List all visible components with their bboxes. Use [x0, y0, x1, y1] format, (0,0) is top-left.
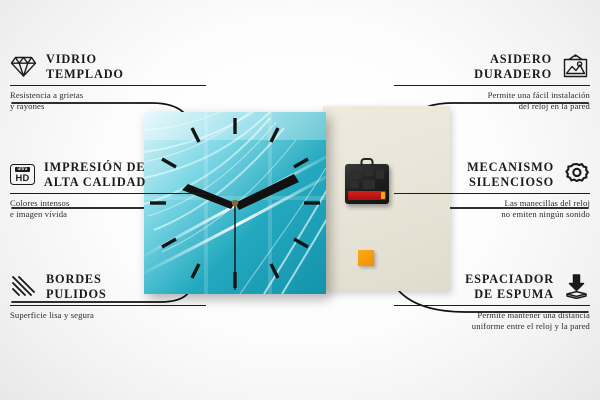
feature-mecanismo-silencioso: MECANISMO SILENCIOSO Las manecillas del … [394, 160, 590, 219]
down-arrow-pad-icon [563, 274, 590, 299]
feature-desc-line1: Colores intensos [10, 198, 206, 209]
feature-espaciador-de-espuma: ESPACIADOR DE ESPUMA Permite mantener un… [394, 272, 590, 331]
feature-desc-line2: del reloj en la pared [394, 101, 590, 112]
feature-desc-line1: Permite una fácil instalación [394, 90, 590, 101]
feature-desc-line1: Las manecillas del reloj [394, 198, 590, 209]
ultra-hd-large-label: HD [16, 173, 30, 182]
feature-bordes-pulidos: BORDES PULIDOS Superficie lisa y segura [10, 272, 206, 321]
feature-title-line1: ASIDERO [474, 52, 552, 67]
feature-title-line2: ALTA CALIDAD [44, 175, 146, 190]
feature-desc-line2: uniforme entre el reloj y la pared [394, 321, 590, 332]
quartz-clock-movement [345, 164, 389, 204]
feature-desc-line1: Superficie lisa y segura [10, 310, 206, 321]
picture-frame-hanger-icon [561, 54, 590, 79]
feature-title-line1: IMPRESIÓN DE [44, 160, 146, 175]
feature-asidero-duradero: ASIDERO DURADERO Permite una fácil insta… [394, 52, 590, 111]
feature-desc-line2: no emiten ningún sonido [394, 209, 590, 220]
feature-title-line2: TEMPLADO [46, 67, 124, 82]
feature-title-line1: ESPACIADOR [465, 272, 554, 287]
feature-desc-line2: e imagen vívida [10, 209, 206, 220]
foam-spacer [358, 250, 374, 266]
feature-title-line1: MECANISMO [467, 160, 554, 175]
feature-desc-line2: y rayones [10, 101, 206, 112]
feature-vidrio-templado: VIDRIO TEMPLADO Resistencia a grietas y … [10, 52, 206, 111]
ultra-hd-icon: ultra HD [10, 164, 35, 185]
feature-title-line2: DE ESPUMA [465, 287, 554, 302]
clock-center-cap [232, 200, 238, 206]
feature-title-line1: BORDES [46, 272, 107, 287]
diagonal-lines-icon [10, 275, 37, 298]
feature-desc-line1: Permite mantener una distancia [394, 310, 590, 321]
feature-desc-line1: Resistencia a grietas [10, 90, 206, 101]
infographic-canvas: VIDRIO TEMPLADO Resistencia a grietas y … [0, 0, 600, 400]
feature-title-line2: DURADERO [474, 67, 552, 82]
feature-title-line2: SILENCIOSO [467, 175, 554, 190]
feature-title-line1: VIDRIO [46, 52, 124, 67]
feature-impresion-alta-calidad: ultra HD IMPRESIÓN DE ALTA CALIDAD Color… [10, 160, 206, 219]
diamond-icon [10, 55, 37, 78]
feature-title-line2: PULIDOS [46, 287, 107, 302]
gear-icon [563, 162, 590, 187]
aa-battery [348, 191, 386, 200]
movement-hanger [361, 158, 374, 166]
